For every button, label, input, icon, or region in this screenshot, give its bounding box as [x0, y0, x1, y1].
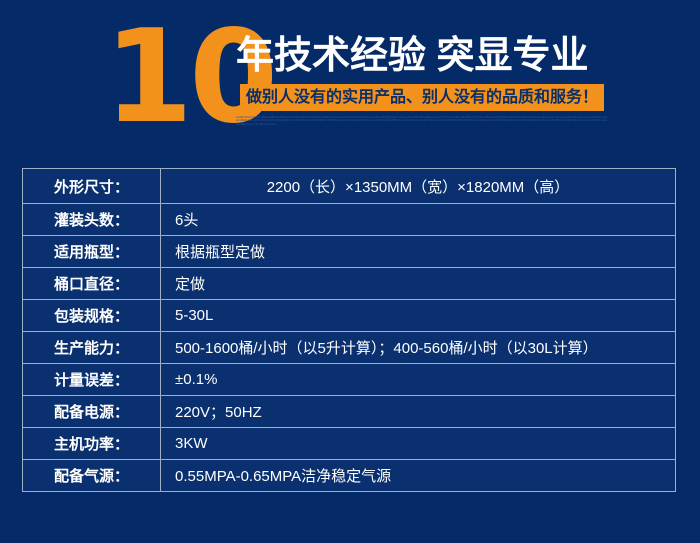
- table-row: 桶口直径：定做: [23, 268, 676, 300]
- spec-label-cell: 配备气源：: [23, 460, 161, 492]
- decorative-microtext: CodeDCDCC140QbFdBjEFdHjBeueCdSDwVCAEJbDb…: [236, 116, 608, 136]
- spec-label-cell: 计量误差：: [23, 364, 161, 396]
- spec-value-cell: 500-1600桶/小时（以5升计算）；400-560桶/小时（以30L计算）: [161, 332, 676, 364]
- spec-label-cell: 桶口直径：: [23, 268, 161, 300]
- spec-value-cell: 5-30L: [161, 300, 676, 332]
- header-banner: 10 年技术经验 突显专业 做别人没有的实用产品、别人没有的品质和服务！ Cod…: [0, 0, 700, 152]
- table-row: 配备电源：220V；50HZ: [23, 396, 676, 428]
- product-spec-page: 10 年技术经验 突显专业 做别人没有的实用产品、别人没有的品质和服务！ Cod…: [0, 0, 700, 543]
- spec-label-cell: 主机功率：: [23, 428, 161, 460]
- spec-value-cell: 220V；50HZ: [161, 396, 676, 428]
- table-row: 生产能力：500-1600桶/小时（以5升计算）；400-560桶/小时（以30…: [23, 332, 676, 364]
- table-row: 适用瓶型：根据瓶型定做: [23, 236, 676, 268]
- spec-value-cell: 根据瓶型定做: [161, 236, 676, 268]
- spec-label-cell: 生产能力：: [23, 332, 161, 364]
- spec-value-cell: 6头: [161, 204, 676, 236]
- spec-value-cell: 3KW: [161, 428, 676, 460]
- spec-label-cell: 外形尺寸：: [23, 169, 161, 204]
- subbanner-slogan: 做别人没有的实用产品、别人没有的品质和服务！: [240, 84, 604, 111]
- spec-value-cell: 0.55MPA-0.65MPA洁净稳定气源: [161, 460, 676, 492]
- spec-label-cell: 包装规格：: [23, 300, 161, 332]
- spec-label-cell: 配备电源：: [23, 396, 161, 428]
- table-row: 配备气源：0.55MPA-0.65MPA洁净稳定气源: [23, 460, 676, 492]
- table-row: 包装规格：5-30L: [23, 300, 676, 332]
- specification-table: 外形尺寸：2200（长）×1350MM（宽）×1820MM（高）灌装头数：6头适…: [22, 168, 676, 492]
- spec-value-cell: ±0.1%: [161, 364, 676, 396]
- years-number: 10: [104, 8, 240, 148]
- table-row: 计量误差：±0.1%: [23, 364, 676, 396]
- table-row: 外形尺寸：2200（长）×1350MM（宽）×1820MM（高）: [23, 169, 676, 204]
- spec-label-cell: 灌装头数：: [23, 204, 161, 236]
- spec-value-cell: 定做: [161, 268, 676, 300]
- table-row: 主机功率：3KW: [23, 428, 676, 460]
- spec-value-cell: 2200（长）×1350MM（宽）×1820MM（高）: [161, 169, 676, 204]
- spec-label-cell: 适用瓶型：: [23, 236, 161, 268]
- table-row: 灌装头数：6头: [23, 204, 676, 236]
- headline-text: 年技术经验 突显专业: [236, 31, 616, 81]
- specification-table-body: 外形尺寸：2200（长）×1350MM（宽）×1820MM（高）灌装头数：6头适…: [23, 169, 676, 492]
